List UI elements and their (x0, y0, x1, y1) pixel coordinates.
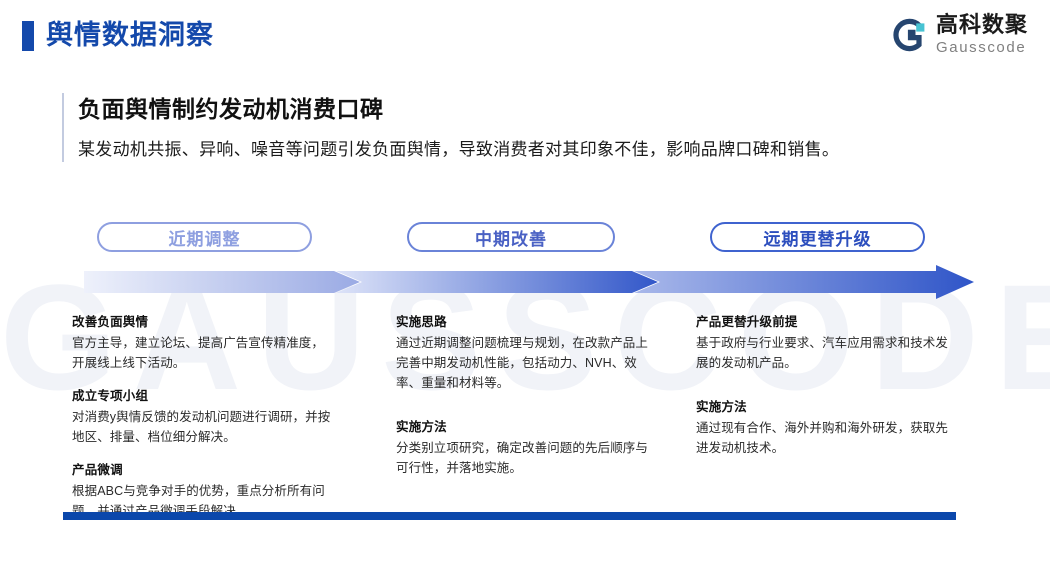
brand-name-cn: 高科数聚 (936, 14, 1028, 36)
gausscode-logo-icon (889, 16, 927, 54)
page-title: 舆情数据洞察 (46, 16, 214, 54)
slide-header: 舆情数据洞察 高科数聚 Gausscode (0, 0, 1050, 68)
detail-block-title: 实施思路 (396, 312, 656, 332)
headline-block: 负面舆情制约发动机消费口碑 某发动机共振、异响、噪音等问题引发负面舆情，导致消费… (62, 93, 1008, 162)
phase-pill-mid-term[interactable]: 中期改善 (407, 222, 615, 252)
detail-block-body: 通过现有合作、海外并购和海外研发，获取先进发动机技术。 (696, 418, 956, 458)
timeline-arrow (84, 264, 974, 300)
header-accent-bar (22, 21, 34, 51)
detail-block: 改善负面舆情 官方主导，建立论坛、提高广告宣传精准度，开展线上线下活动。 (72, 312, 332, 373)
phase-column-near-term: 改善负面舆情 官方主导，建立论坛、提高广告宣传精准度，开展线上线下活动。 成立专… (72, 312, 332, 521)
detail-block-title: 改善负面舆情 (72, 312, 332, 332)
headline-subtitle: 某发动机共振、异响、噪音等问题引发负面舆情，导致消费者对其印象不佳，影响品牌口碑… (78, 138, 1008, 162)
detail-block-body: 通过近期调整问题梳理与规划，在改款产品上完善中期发动机性能，包括动力、NVH、效… (396, 333, 656, 393)
detail-block-body: 基于政府与行业要求、汽车应用需求和技术发展的发动机产品。 (696, 333, 956, 373)
detail-block: 实施方法 通过现有合作、海外并购和海外研发，获取先进发动机技术。 (696, 397, 956, 458)
detail-block: 产品更替升级前提 基于政府与行业要求、汽车应用需求和技术发展的发动机产品。 (696, 312, 956, 373)
phase-detail-columns: 改善负面舆情 官方主导，建立论坛、提高广告宣传精准度，开展线上线下活动。 成立专… (0, 312, 1050, 502)
detail-block: 实施方法 分类别立项研究，确定改善问题的先后顺序与可行性，并落地实施。 (396, 417, 656, 478)
phase-pill-long-term[interactable]: 远期更替升级 (710, 222, 925, 252)
slide-stage: 舆情数据洞察 高科数聚 Gausscode 负面舆情制约发动机消费口碑 某发动机… (0, 0, 1050, 588)
detail-block-body: 官方主导，建立论坛、提高广告宣传精准度，开展线上线下活动。 (72, 333, 332, 373)
brand-name-en: Gausscode (936, 40, 1028, 55)
phase-pill-near-term[interactable]: 近期调整 (97, 222, 312, 252)
footer-accent-bar (63, 512, 956, 520)
detail-block-title: 成立专项小组 (72, 386, 332, 406)
detail-block-body: 对消费y舆情反馈的发动机问题进行调研，并按地区、排量、档位细分解决。 (72, 407, 332, 447)
detail-block-title: 产品更替升级前提 (696, 312, 956, 332)
headline-title: 负面舆情制约发动机消费口碑 (78, 93, 1008, 125)
detail-block-title: 产品微调 (72, 460, 332, 480)
phase-column-mid-term: 实施思路 通过近期调整问题梳理与规划，在改款产品上完善中期发动机性能，包括动力、… (396, 312, 656, 502)
detail-block: 成立专项小组 对消费y舆情反馈的发动机问题进行调研，并按地区、排量、档位细分解决… (72, 386, 332, 447)
detail-block-title: 实施方法 (396, 417, 656, 437)
brand-logo-text: 高科数聚 Gausscode (936, 14, 1028, 55)
detail-block-body: 分类别立项研究，确定改善问题的先后顺序与可行性，并落地实施。 (396, 438, 656, 478)
brand-logo: 高科数聚 Gausscode (889, 14, 1028, 55)
phase-column-long-term: 产品更替升级前提 基于政府与行业要求、汽车应用需求和技术发展的发动机产品。 实施… (696, 312, 956, 482)
detail-block: 实施思路 通过近期调整问题梳理与规划，在改款产品上完善中期发动机性能，包括动力、… (396, 312, 656, 393)
detail-block-title: 实施方法 (696, 397, 956, 417)
